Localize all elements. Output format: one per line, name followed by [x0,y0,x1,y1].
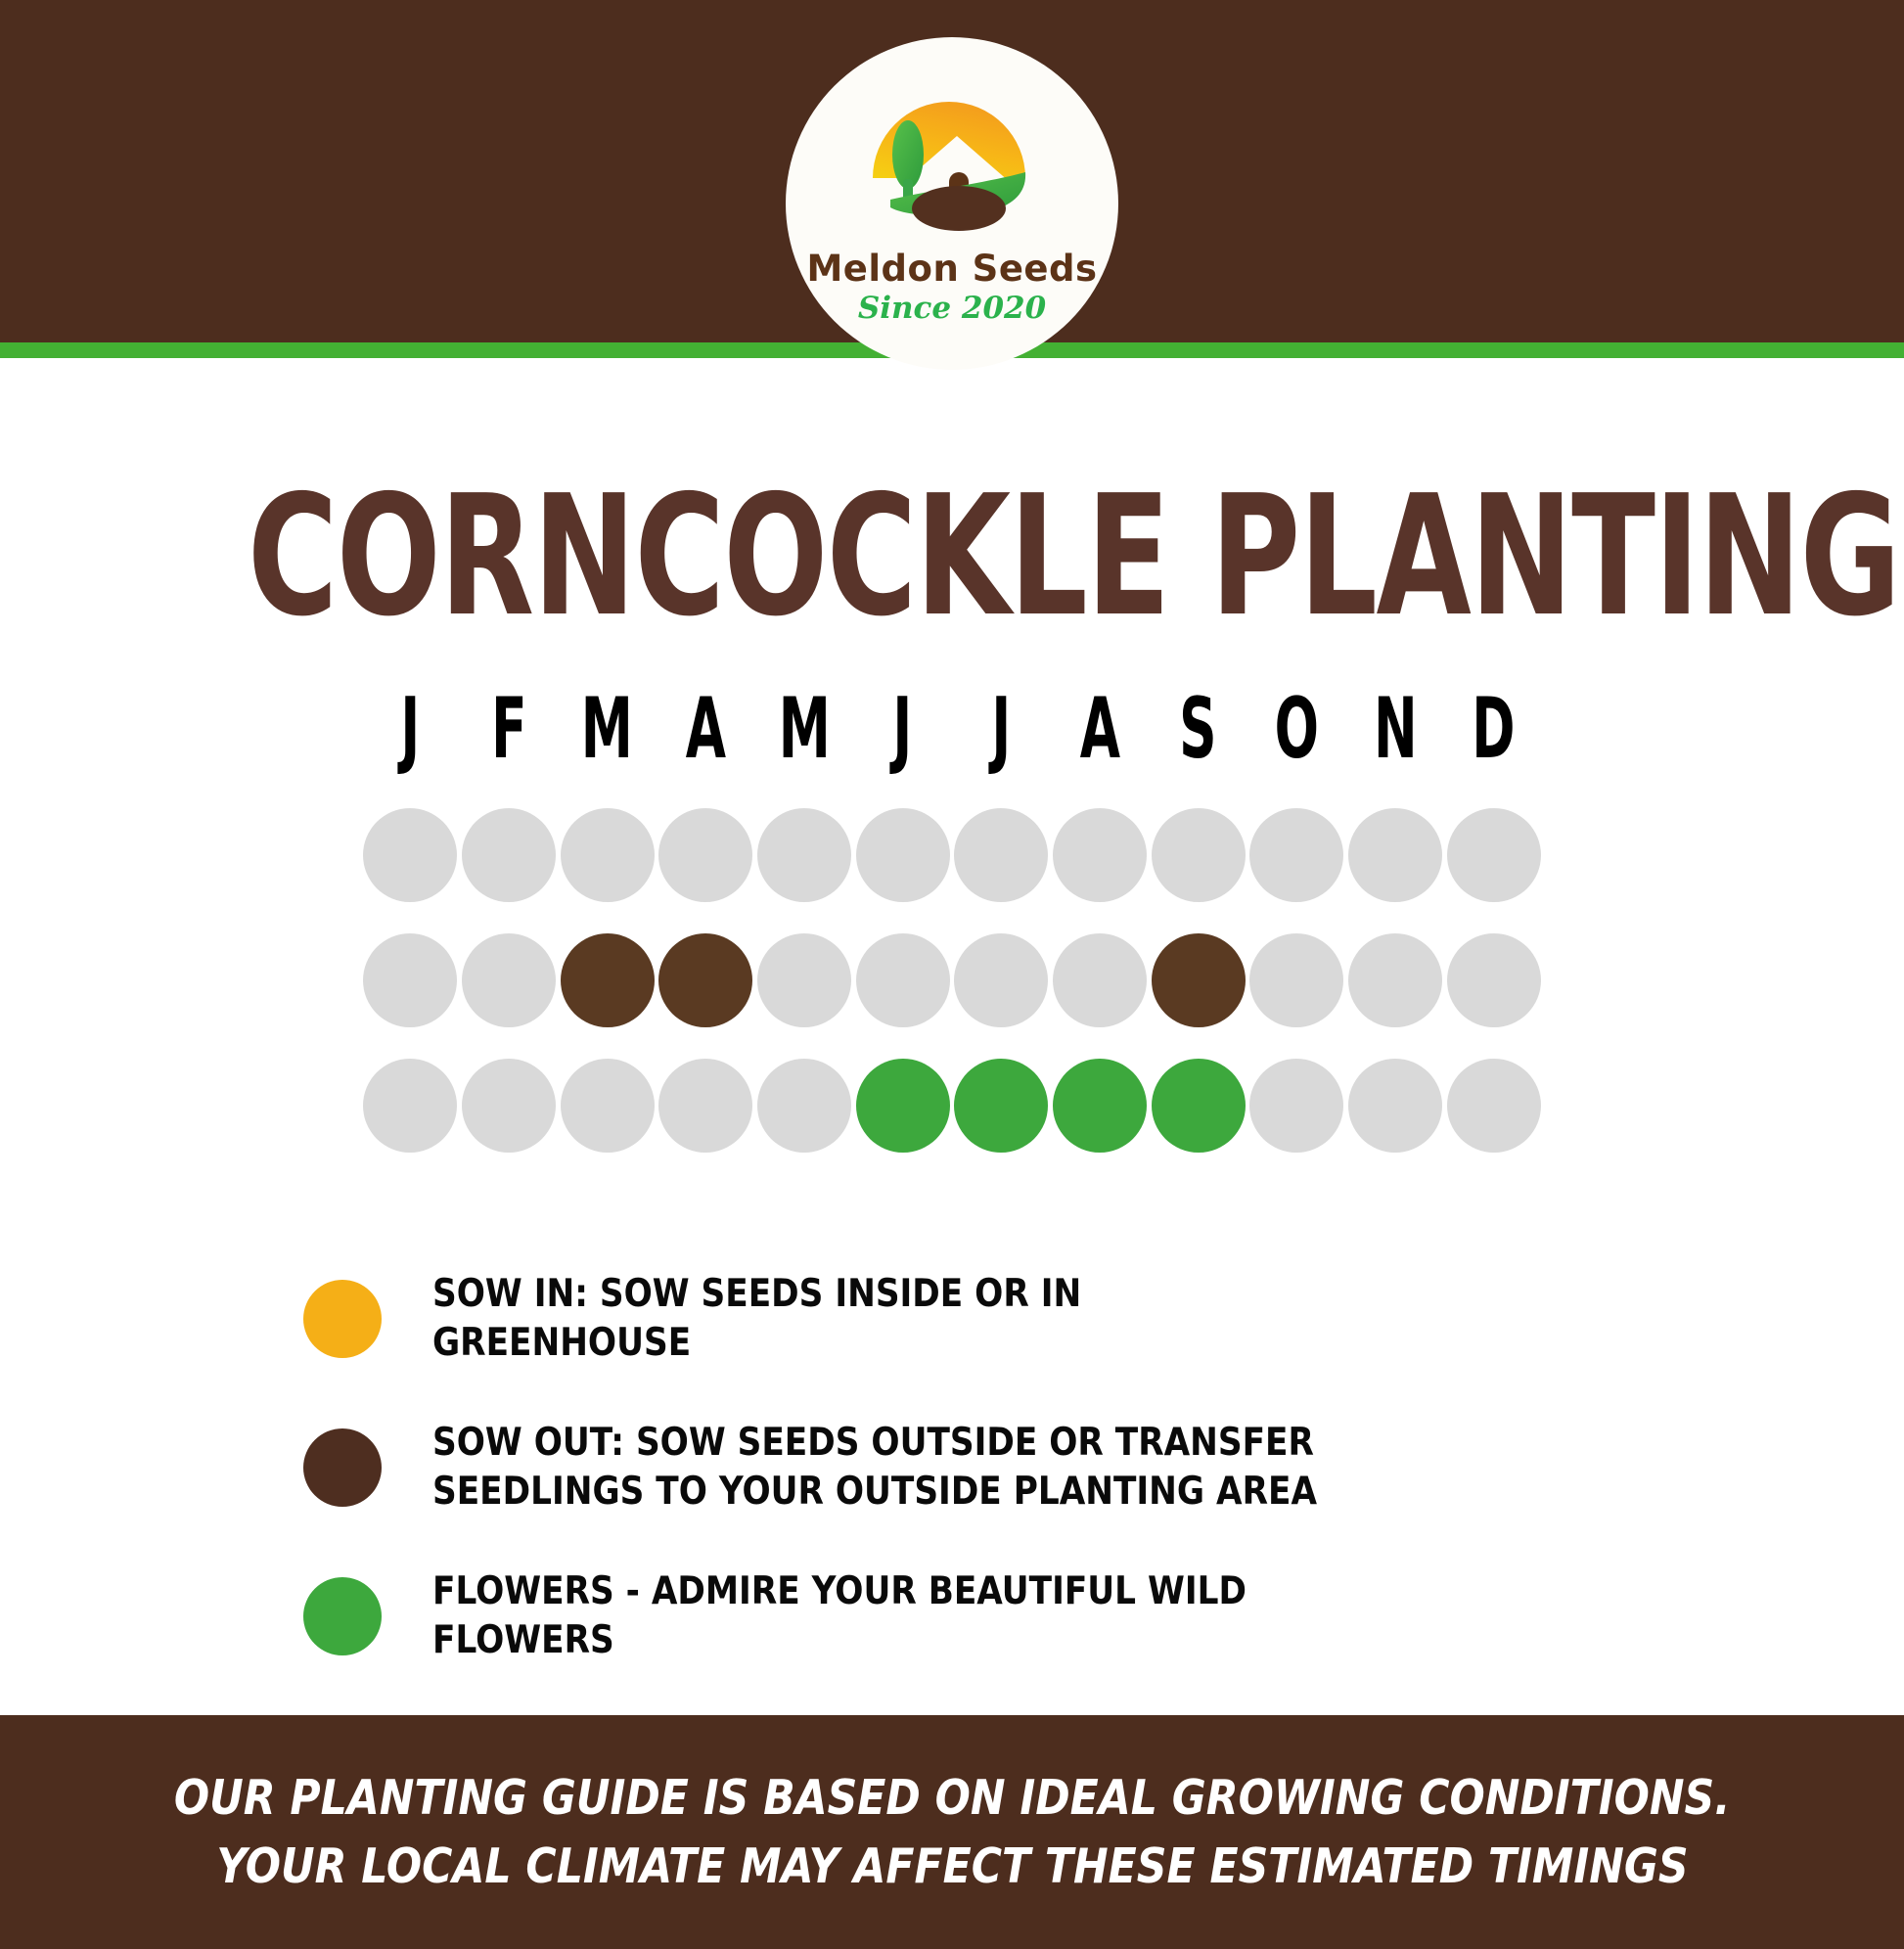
legend: SOW IN: SOW SEEDS INSIDE OR IN GREENHOUS… [303,1270,1477,1664]
dot-flowers-J-0 [363,1059,457,1153]
month-label-feb: F [478,687,539,771]
dot-sow-in-J-0 [363,808,457,902]
dot-flowers-J-5 [856,1059,950,1153]
dot-sow-out-M-2 [561,933,655,1027]
dot-flowers-A-3 [658,1059,752,1153]
dot-sow-in-N-10 [1348,808,1442,902]
dot-sow-out-F-1 [462,933,556,1027]
dot-flowers-N-10 [1348,1059,1442,1153]
dot-sow-in-S-8 [1152,808,1246,902]
dot-sow-in-A-3 [658,808,752,902]
dot-flowers-M-4 [757,1059,851,1153]
month-label-jul: J [971,687,1031,771]
footer-disclaimer-line-1: OUR PLANTING GUIDE IS BASED ON IDEAL GRO… [174,1764,1731,1833]
month-label-jan: J [380,687,440,771]
dot-sow-in-O-9 [1249,808,1343,902]
planting-calendar: J F M A M J J A S O N D [361,687,1543,1168]
footer-disclaimer-line-2: YOUR LOCAL CLIMATE MAY AFFECT THESE ESTI… [216,1833,1688,1901]
month-label-apr: A [675,687,736,771]
dot-sow-out-J-5 [856,933,950,1027]
legend-swatch-flowers-icon [303,1577,382,1655]
dot-sow-in-M-2 [561,808,655,902]
dot-flowers-A-7 [1053,1059,1147,1153]
dot-sow-out-O-9 [1249,933,1343,1027]
dot-sow-out-N-10 [1348,933,1442,1027]
dot-sow-out-A-7 [1053,933,1147,1027]
legend-label-flowers: FLOWERS - ADMIRE YOUR BEAUTIFUL WILD FLO… [432,1567,1345,1665]
month-label-oct: O [1266,687,1327,771]
dot-sow-out-A-3 [658,933,752,1027]
dot-row-sow-out [361,918,1543,1043]
month-header-row: J F M A M J J A S O N D [361,687,1543,771]
main-content: CORNCOCKLE PLANTING GUIDE J F M A M J J … [0,358,1904,1715]
dot-sow-in-D-11 [1447,808,1541,902]
legend-item-flowers: FLOWERS - ADMIRE YOUR BEAUTIFUL WILD FLO… [303,1567,1477,1665]
dot-sow-in-J-6 [954,808,1048,902]
month-label-jun: J [872,687,932,771]
month-label-dec: D [1463,687,1523,771]
month-label-nov: N [1365,687,1426,771]
month-label-may: M [774,687,835,771]
month-label-mar: M [576,687,637,771]
month-label-aug: A [1069,687,1130,771]
legend-swatch-sow-out-icon [303,1428,382,1507]
dot-sow-out-M-4 [757,933,851,1027]
planting-guide-page: Meldon Seeds Since 2020 CORNCOCKLE PLANT… [0,0,1904,1904]
dot-sow-in-J-5 [856,808,950,902]
legend-label-sow-in: SOW IN: SOW SEEDS INSIDE OR IN GREENHOUS… [432,1270,1345,1368]
footer-band: OUR PLANTING GUIDE IS BASED ON IDEAL GRO… [0,1715,1904,1949]
legend-item-sow-out: SOW OUT: SOW SEEDS OUTSIDE OR TRANSFER S… [303,1419,1477,1517]
dot-flowers-O-9 [1249,1059,1343,1153]
dot-flowers-D-11 [1447,1059,1541,1153]
page-title: CORNCOCKLE PLANTING GUIDE [248,474,1656,640]
legend-swatch-sow-in-icon [303,1280,382,1358]
dot-flowers-S-8 [1152,1059,1246,1153]
dot-sow-in-A-7 [1053,808,1147,902]
dot-flowers-F-1 [462,1059,556,1153]
logo-brand-name: Meldon Seeds [806,250,1097,287]
dot-sow-in-F-1 [462,808,556,902]
brand-logo-badge: Meldon Seeds Since 2020 [786,37,1118,370]
logo-tagline: Since 2020 [858,294,1046,324]
month-label-sep: S [1167,687,1228,771]
dot-sow-out-D-11 [1447,933,1541,1027]
dot-sow-in-M-4 [757,808,851,902]
dot-row-flowers [361,1043,1543,1168]
legend-item-sow-in: SOW IN: SOW SEEDS INSIDE OR IN GREENHOUS… [303,1270,1477,1368]
dot-flowers-J-6 [954,1059,1048,1153]
dot-sow-out-J-0 [363,933,457,1027]
dot-sow-out-S-8 [1152,933,1246,1027]
dot-flowers-M-2 [561,1059,655,1153]
dot-sow-out-J-6 [954,933,1048,1027]
dot-row-sow-in [361,793,1543,918]
farmhouse-tree-seed-logo-icon [843,80,1061,247]
legend-label-sow-out: SOW OUT: SOW SEEDS OUTSIDE OR TRANSFER S… [432,1419,1345,1517]
